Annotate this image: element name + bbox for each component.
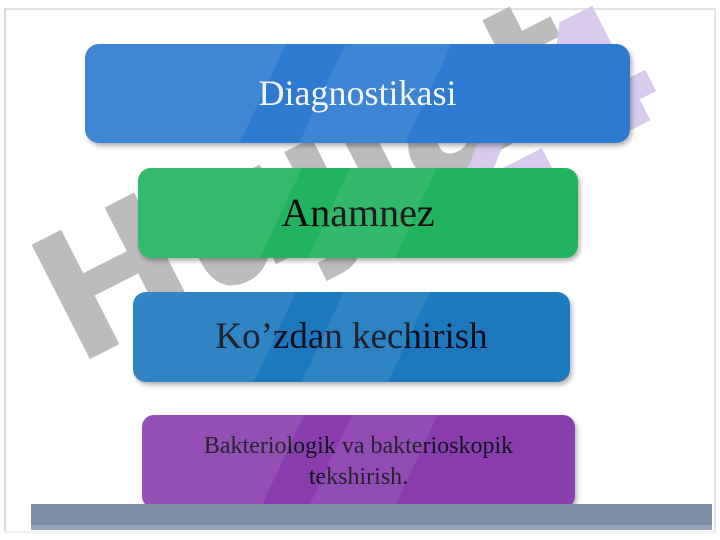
diagram-node-bakteriologik-tekshirish[interactable]: Bakteriologik va bakterioskopik tekshiri… [142, 415, 575, 508]
diagram-node-label: Ko’zdan kechirish [205, 316, 497, 357]
slide-canvas: Hujjat 24 Diagnostikasi Anamnez Ko’zdan … [0, 0, 720, 540]
diagram-node-label: Diagnostikasi [249, 73, 467, 113]
diagram-node-anamnez[interactable]: Anamnez [138, 168, 578, 258]
diagram-node-kozdan-kechirish[interactable]: Ko’zdan kechirish [133, 292, 570, 382]
diagram-node-diagnostikasi[interactable]: Diagnostikasi [85, 44, 630, 143]
diagram-node-label: Anamnez [271, 191, 444, 236]
slide-border-top [4, 8, 716, 10]
slide-border-right [714, 8, 716, 532]
slide-border-bottom [4, 531, 716, 533]
slide-border-left [4, 8, 6, 532]
diagram-node-label: Bakteriologik va bakterioskopik tekshiri… [142, 431, 575, 491]
slide-footer-bar-shade [31, 525, 712, 530]
